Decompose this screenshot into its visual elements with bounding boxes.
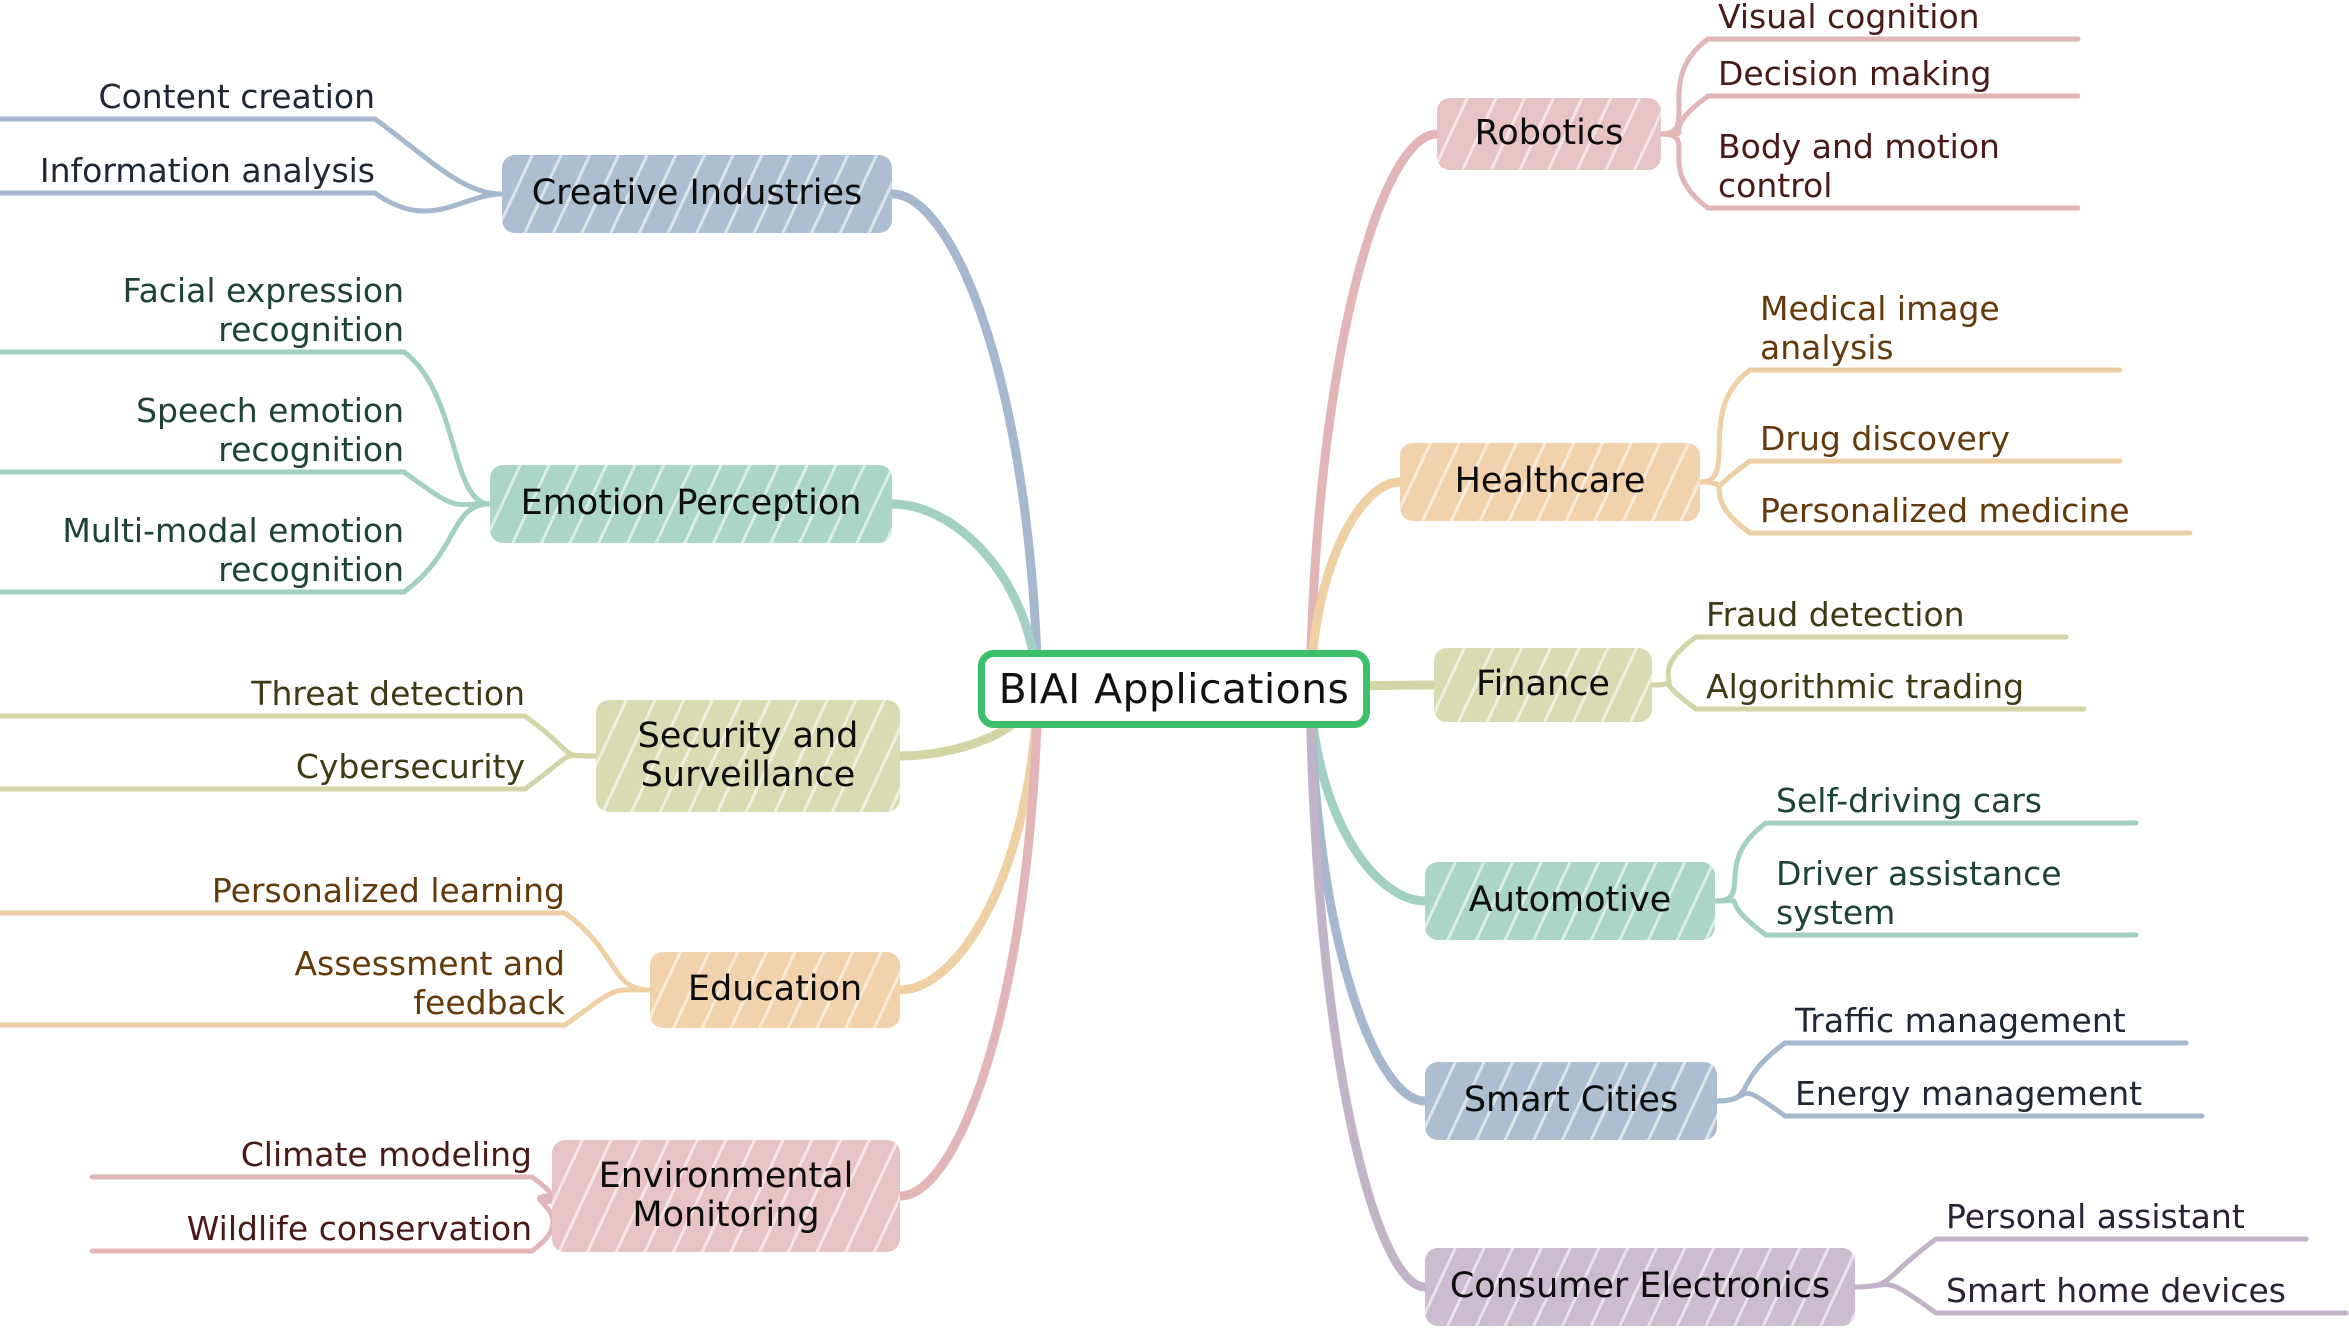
branch-node-automotive[interactable]: Automotive xyxy=(1425,862,1715,940)
leaf-label[interactable]: Content creation xyxy=(0,78,375,117)
leaf-label[interactable]: Multi-modal emotion recognition xyxy=(0,512,404,590)
leaf-text: Driver assistance system xyxy=(1776,854,2062,932)
edge xyxy=(1855,1239,1936,1287)
mindmap-canvas: BIAI ApplicationsRoboticsVisual cognitio… xyxy=(0,0,2349,1335)
leaf-label[interactable]: Personal assistant xyxy=(1946,1198,2245,1237)
branch-node-label: Education xyxy=(688,970,862,1009)
leaf-text: Climate modeling xyxy=(241,1135,532,1174)
leaf-label[interactable]: Speech emotion recognition xyxy=(0,392,404,470)
edge xyxy=(565,913,650,990)
leaf-label[interactable]: Facial expression recognition xyxy=(0,272,404,350)
leaf-text: Traffic management xyxy=(1795,1001,2126,1040)
edge xyxy=(892,194,1038,689)
branch-node-label: Smart Cities xyxy=(1464,1081,1678,1120)
leaf-label[interactable]: Decision making xyxy=(1718,55,1992,94)
leaf-label[interactable]: Cybersecurity xyxy=(0,748,525,787)
leaf-label[interactable]: Assessment and feedback xyxy=(0,945,565,1023)
leaf-text: Personalized medicine xyxy=(1760,491,2130,530)
edge xyxy=(1310,689,1425,1287)
root-node[interactable]: BIAI Applications xyxy=(978,650,1370,728)
leaf-text: Smart home devices xyxy=(1946,1271,2286,1310)
branch-node-label: Automotive xyxy=(1469,881,1671,920)
branch-node-education[interactable]: Education xyxy=(650,952,900,1028)
leaf-text: Algorithmic trading xyxy=(1706,667,2024,706)
edge xyxy=(1700,461,1750,487)
leaf-label[interactable]: Fraud detection xyxy=(1706,596,1965,635)
edge xyxy=(525,716,596,756)
branch-node-consumer-electronics[interactable]: Consumer Electronics xyxy=(1425,1248,1855,1326)
leaf-label[interactable]: Personalized medicine xyxy=(1760,492,2130,531)
edge xyxy=(1715,823,1766,901)
root-node-label: BIAI Applications xyxy=(999,665,1350,713)
branch-node-label: Emotion Perception xyxy=(521,484,862,523)
edge xyxy=(565,990,650,1025)
edge xyxy=(1661,96,1708,134)
branch-node-label: Healthcare xyxy=(1455,462,1646,501)
leaf-text: Fraud detection xyxy=(1706,595,1965,634)
leaf-label[interactable]: Energy management xyxy=(1795,1075,2142,1114)
leaf-label[interactable]: Smart home devices xyxy=(1946,1272,2286,1311)
branch-node-label: Consumer Electronics xyxy=(1450,1267,1830,1306)
leaf-label[interactable]: Wildlife conservation xyxy=(92,1210,532,1249)
edge xyxy=(1715,901,1766,935)
leaf-text: Self-driving cars xyxy=(1776,781,2042,820)
edge xyxy=(1855,1285,1936,1313)
branch-node-environmental-monitoring[interactable]: Environmental Monitoring xyxy=(552,1140,900,1252)
branch-node-label: Environmental Monitoring xyxy=(599,1157,854,1235)
edge xyxy=(1717,1093,1785,1116)
leaf-label[interactable]: Medical image analysis xyxy=(1760,290,2000,368)
edge xyxy=(1652,682,1696,709)
leaf-text: Medical image analysis xyxy=(1760,289,2000,367)
leaf-text: Content creation xyxy=(99,77,375,116)
edge xyxy=(1661,134,1708,208)
leaf-text: Body and motion control xyxy=(1718,127,2000,205)
leaf-text: Wildlife conservation xyxy=(187,1209,532,1248)
leaf-label[interactable]: Driver assistance system xyxy=(1776,855,2062,933)
edge xyxy=(1310,134,1437,689)
leaf-text: Multi-modal emotion recognition xyxy=(62,511,404,589)
leaf-label[interactable]: Climate modeling xyxy=(92,1136,532,1175)
leaf-label[interactable]: Personalized learning xyxy=(0,872,565,911)
branch-node-smart-cities[interactable]: Smart Cities xyxy=(1425,1062,1717,1140)
branch-node-label: Robotics xyxy=(1475,114,1624,153)
leaf-text: Cybersecurity xyxy=(296,747,525,786)
edge xyxy=(1717,1043,1785,1101)
edge xyxy=(1652,637,1696,685)
branch-node-label: Finance xyxy=(1476,665,1610,704)
leaf-text: Decision making xyxy=(1718,54,1992,93)
leaf-text: Information analysis xyxy=(40,151,375,190)
leaf-text: Speech emotion recognition xyxy=(136,391,404,469)
branch-node-robotics[interactable]: Robotics xyxy=(1437,98,1661,170)
branch-node-healthcare[interactable]: Healthcare xyxy=(1400,443,1700,521)
leaf-text: Threat detection xyxy=(251,674,525,713)
leaf-label[interactable]: Visual cognition xyxy=(1718,0,1980,37)
leaf-text: Energy management xyxy=(1795,1074,2142,1113)
leaf-text: Visual cognition xyxy=(1718,0,1980,36)
edge xyxy=(900,689,1038,1196)
leaf-text: Drug discovery xyxy=(1760,419,2010,458)
leaf-text: Personal assistant xyxy=(1946,1197,2245,1236)
edge xyxy=(404,352,490,504)
edge xyxy=(375,193,502,211)
edge xyxy=(1310,689,1425,1101)
leaf-label[interactable]: Algorithmic trading xyxy=(1706,668,2024,707)
leaf-label[interactable]: Body and motion control xyxy=(1718,128,2000,206)
leaf-label[interactable]: Self-driving cars xyxy=(1776,782,2042,821)
leaf-label[interactable]: Traffic management xyxy=(1795,1002,2126,1041)
edge xyxy=(525,756,596,789)
leaf-label[interactable]: Drug discovery xyxy=(1760,420,2010,459)
edge xyxy=(375,119,502,194)
edge xyxy=(1700,370,1750,482)
branch-node-emotion-perception[interactable]: Emotion Perception xyxy=(490,465,892,543)
leaf-label[interactable]: Threat detection xyxy=(0,675,525,714)
branch-node-label: Security and Surveillance xyxy=(638,717,859,795)
branch-node-security-surveillance[interactable]: Security and Surveillance xyxy=(596,700,900,812)
edge xyxy=(404,504,490,592)
edge xyxy=(532,1196,553,1251)
branch-node-finance[interactable]: Finance xyxy=(1434,648,1652,722)
branch-node-label: Creative Industries xyxy=(532,174,863,213)
branch-node-creative-industries[interactable]: Creative Industries xyxy=(502,155,892,233)
leaf-text: Facial expression recognition xyxy=(123,271,404,349)
leaf-text: Personalized learning xyxy=(212,871,565,910)
leaf-label[interactable]: Information analysis xyxy=(0,152,375,191)
leaf-text: Assessment and feedback xyxy=(294,944,565,1022)
edge xyxy=(1661,39,1708,134)
edge xyxy=(404,472,490,505)
edge xyxy=(1700,482,1750,533)
edge xyxy=(900,689,1038,990)
edge xyxy=(532,1177,553,1202)
